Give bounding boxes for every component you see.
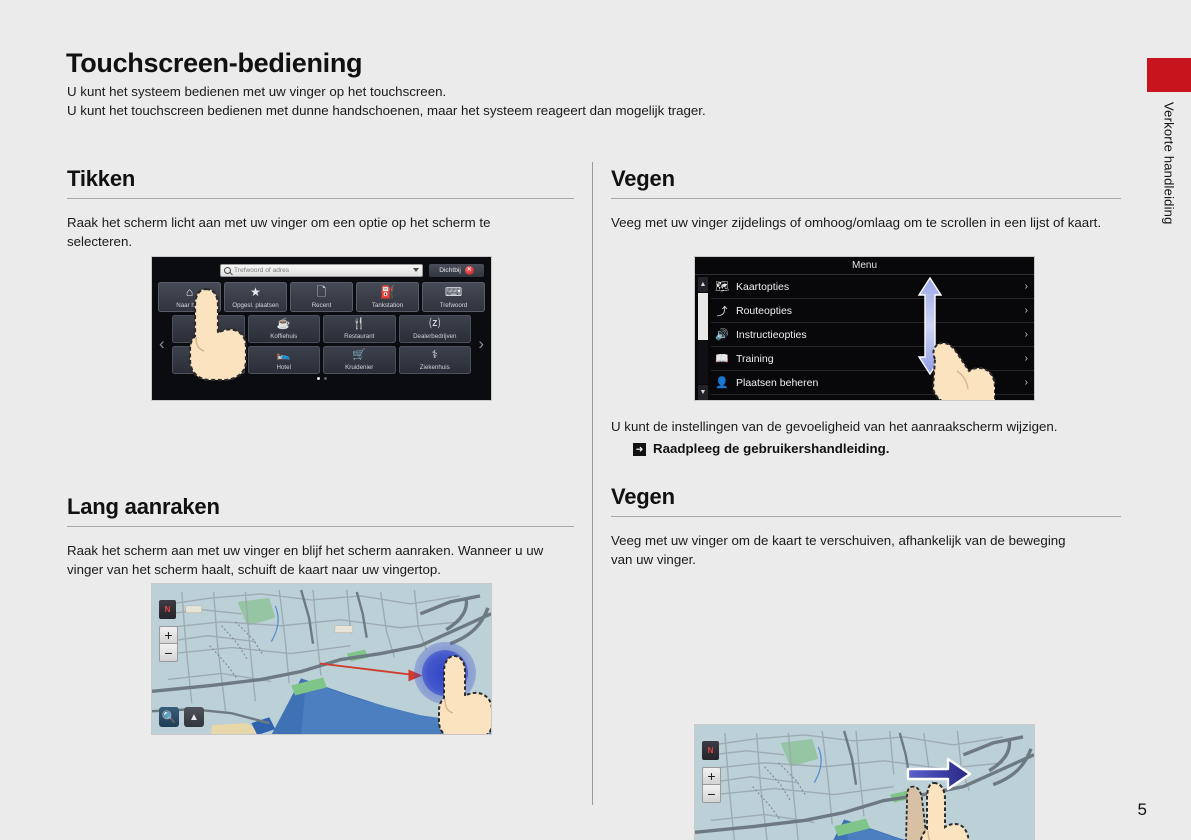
next-page-arrow-icon[interactable]: › — [478, 335, 484, 352]
section-rule — [67, 198, 574, 199]
menu-item-label: Routeopties — [736, 305, 1018, 317]
close-circle-icon[interactable] — [465, 266, 474, 275]
section-heading-vegen-pan: Vegen — [611, 484, 1121, 510]
nav-tile-label: Tankstation — [372, 302, 403, 309]
compass-icon[interactable]: N — [702, 741, 719, 760]
keyboard-icon: ⌨ — [423, 286, 484, 299]
page-dot-active[interactable] — [317, 377, 320, 380]
intro-line-1: U kunt het systeem bedienen met uw vinge… — [67, 82, 887, 101]
section-heading-lang-aanraken: Lang aanraken — [67, 494, 574, 520]
page-dot[interactable] — [324, 377, 327, 380]
section-rule — [611, 198, 1121, 199]
map-swipe[interactable]: N + − 🔍 ▲ — [694, 724, 1035, 840]
documents-icon: 🗋 — [291, 286, 352, 299]
swipe-finger-illustration — [901, 781, 969, 840]
section-rule — [67, 526, 574, 527]
nav-cell-hospital[interactable]: ⚕ Ziekenhuis — [399, 346, 472, 374]
section-heading-vegen-scroll: Vegen — [611, 166, 1121, 192]
menu-item-label: Kaartopties — [736, 281, 1018, 293]
section-vegen-scroll: Vegen Veeg met uw vinger zijdelings of o… — [611, 166, 1121, 232]
zoom-in-button[interactable]: + — [159, 626, 178, 644]
column-divider — [592, 162, 593, 805]
search-placeholder: Trefwoord of adres — [234, 267, 289, 274]
page-intro: U kunt het systeem bedienen met uw vinge… — [67, 82, 887, 120]
manual-page: Touchscreen-bediening U kunt het systeem… — [0, 0, 1191, 840]
reference-line: Raadpleeg de gebruikershandleiding. — [633, 439, 1131, 459]
chevron-right-icon: › — [1025, 353, 1028, 364]
map-long-press[interactable]: ​ N + − 🔍 ▲ — [151, 583, 492, 735]
map-graphics — [695, 725, 1034, 840]
fuel-pump-icon: ⛽ — [357, 286, 418, 299]
navigation-screen[interactable]: Trefwoord of adres Dichtbij ⌂ Naar huis … — [151, 256, 492, 401]
zoom-out-button[interactable]: − — [159, 644, 178, 662]
long-press-finger-illustration — [430, 654, 492, 735]
menu-screen[interactable]: Menu ▲ ▼ 🗺 Kaartopties › ⤴ Routeopties › — [694, 256, 1035, 401]
chevron-right-icon: › — [1025, 329, 1028, 340]
nav-cell-label: Restaurant — [344, 333, 374, 340]
bed-icon: 🛌 — [249, 349, 320, 362]
menu-item-kaartopties[interactable]: 🗺 Kaartopties › — [711, 275, 1034, 299]
search-input[interactable]: Trefwoord of adres — [220, 264, 423, 277]
menu-item-routeopties[interactable]: ⤴ Routeopties › — [711, 299, 1034, 323]
section-body-tikken: Raak het scherm licht aan met uw vinger … — [67, 213, 537, 251]
side-tab[interactable]: Verkorte handleiding — [1147, 92, 1191, 272]
intro-line-2: U kunt het touchscreen bedienen met dunn… — [67, 101, 887, 120]
book-icon: 📖 — [715, 352, 729, 365]
route-arrow-icon: ⤴ — [715, 303, 729, 319]
page-number: 5 — [1138, 800, 1147, 820]
nav-cell-label: Hotel — [277, 364, 291, 371]
section-vegen-pan: Vegen Veeg met uw vinger om de kaart te … — [611, 484, 1121, 569]
page-title: Touchscreen-bediening — [66, 48, 362, 79]
pointing-finger-illustration — [180, 287, 252, 382]
nav-cell-dealers[interactable]: ⒵ Dealerbedrijven — [399, 315, 472, 343]
hospital-icon: ⚕ — [400, 349, 471, 362]
honda-logo-icon: ⒵ — [400, 318, 471, 331]
zoom-out-button[interactable]: − — [702, 785, 721, 803]
map-icon: 🗺 — [715, 280, 729, 293]
chevron-right-icon: › — [1025, 281, 1028, 292]
nav-cell-restaurant[interactable]: 🍴 Restaurant — [323, 315, 396, 343]
speaker-icon: 🔊 — [715, 328, 729, 341]
menu-scrollbar[interactable]: ▲ ▼ — [695, 275, 711, 401]
shopping-cart-icon: 🛒 — [324, 349, 395, 362]
nav-cell-label: Ziekenhuis — [420, 364, 450, 371]
nearby-button[interactable]: Dichtbij — [429, 264, 484, 277]
nav-tile-keyword[interactable]: ⌨ Trefwoord — [422, 282, 485, 312]
nav-cell-hotel[interactable]: 🛌 Hotel — [248, 346, 321, 374]
section-body-vegen-scroll: Veeg met uw vinger zijdelings of omhoog/… — [611, 213, 1111, 232]
nav-cell-label: Dealerbedrijven — [413, 333, 456, 340]
sensitivity-note-text: U kunt de instellingen van de gevoelighe… — [611, 417, 1131, 437]
nav-cell-coffee[interactable]: ☕ Koffiehuis — [248, 315, 321, 343]
nav-tile-label: Recent — [312, 302, 332, 309]
section-body-vegen-pan: Veeg met uw vinger om de kaart te versch… — [611, 531, 1081, 569]
section-lang-aanraken: Lang aanraken Raak het scherm aan met uw… — [67, 494, 574, 579]
section-tikken: Tikken Raak het scherm licht aan met uw … — [67, 166, 574, 251]
nav-tile-fuel-station[interactable]: ⛽ Tankstation — [356, 282, 419, 312]
menu-title: Menu — [695, 257, 1034, 275]
scrolling-finger-illustration — [927, 321, 995, 401]
scroll-up-icon[interactable]: ▲ — [698, 277, 708, 292]
chevron-right-icon: › — [1025, 305, 1028, 316]
nav-tile-label: Trefwoord — [440, 302, 468, 309]
section-body-lang-aanraken: Raak het scherm aan met uw vinger en bli… — [67, 541, 547, 579]
nav-cell-label: Koffiehuis — [270, 333, 297, 340]
nav-search-row: Trefwoord of adres Dichtbij — [158, 262, 485, 278]
section-rule — [611, 516, 1121, 517]
prev-page-arrow-icon[interactable]: ‹ — [159, 335, 165, 352]
sensitivity-note: U kunt de instellingen van de gevoelighe… — [611, 417, 1131, 459]
arrow-reference-icon — [633, 443, 646, 456]
side-tab-color-block — [1147, 58, 1191, 92]
chevron-down-icon[interactable] — [413, 268, 419, 272]
person-icon: 👤 — [715, 376, 729, 389]
scroll-down-icon[interactable]: ▼ — [698, 385, 708, 400]
coffee-cup-icon: ☕ — [249, 318, 320, 331]
map-search-icon[interactable]: 🔍 — [159, 707, 179, 727]
nav-cell-grocery[interactable]: 🛒 Kruidenier — [323, 346, 396, 374]
zoom-in-button[interactable]: + — [702, 767, 721, 785]
nearby-label: Dichtbij — [439, 267, 461, 274]
search-icon — [224, 267, 231, 274]
section-heading-tikken: Tikken — [67, 166, 574, 192]
side-tab-label: Verkorte handleiding — [1162, 102, 1177, 225]
north-up-icon[interactable]: ▲ — [184, 707, 204, 727]
scrollbar-thumb[interactable] — [698, 293, 708, 340]
cutlery-icon: 🍴 — [324, 318, 395, 331]
compass-icon[interactable]: N — [159, 600, 176, 619]
chevron-right-icon: › — [1025, 377, 1028, 388]
scrollbar-track[interactable] — [698, 293, 708, 384]
nav-cell-label: Kruidenier — [345, 364, 373, 371]
reference-text: Raadpleeg de gebruikershandleiding. — [653, 439, 889, 459]
nav-tile-recent[interactable]: 🗋 Recent — [290, 282, 353, 312]
